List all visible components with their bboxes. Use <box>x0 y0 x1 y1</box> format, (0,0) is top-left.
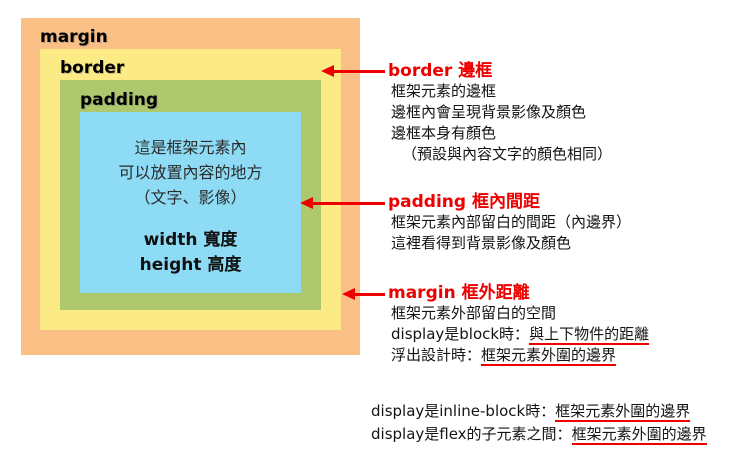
margin-annotation-line-float: 浮出設計時：框架元素外圍的邊界 <box>391 345 649 366</box>
box-model-diagram: margin border padding 這是框架元素內 可以放置內容的地方 … <box>0 0 750 461</box>
flex-note: display是flex的子元素之間：框架元素外圍的邊界 <box>371 423 707 446</box>
content-description: 這是框架元素內 可以放置內容的地方 （文字、影像） <box>80 135 301 210</box>
margin-float-underlined: 框架元素外圍的邊界 <box>481 346 616 366</box>
border-callout-arrow-icon <box>321 65 385 77</box>
border-annotation: border 邊框 框架元素的邊框 邊框內會呈現背景影像及顏色 邊框本身有顏色 … <box>388 61 612 165</box>
inline-block-underlined: 框架元素外圍的邊界 <box>555 402 690 422</box>
content-description-line-2: 可以放置內容的地方 <box>80 160 301 185</box>
content-dimensions: width 寬度 height 高度 <box>80 228 301 278</box>
padding-annotation: padding 框內間距 框架元素內部留白的間距（內邊界） 這裡看得到背景影像及… <box>388 192 631 254</box>
margin-float-prefix: 浮出設計時： <box>391 346 481 364</box>
border-layer-label: border <box>60 58 124 78</box>
content-width-label: width 寬度 <box>80 228 301 253</box>
border-annotation-line-3: 邊框本身有顏色 <box>391 123 612 144</box>
margin-callout-arrow-icon <box>342 288 385 300</box>
padding-annotation-line-1: 框架元素內部留白的間距（內邊界） <box>391 212 631 233</box>
margin-block-underlined: 與上下物件的距離 <box>529 325 649 345</box>
padding-annotation-title: padding 框內間距 <box>388 192 631 212</box>
flex-underlined: 框架元素外圍的邊界 <box>572 425 707 445</box>
flex-prefix: display是flex的子元素之間： <box>371 425 572 443</box>
margin-annotation: margin 框外距離 框架元素外部留白的空間 display是block時：與… <box>388 283 649 366</box>
content-description-line-3: （文字、影像） <box>80 185 301 210</box>
content-description-line-1: 這是框架元素內 <box>80 135 301 160</box>
margin-layer-label: margin <box>40 27 108 47</box>
padding-layer-label: padding <box>80 90 158 110</box>
padding-annotation-line-2: 這裡看得到背景影像及顏色 <box>391 233 631 254</box>
margin-annotation-line-block: display是block時：與上下物件的距離 <box>391 324 649 345</box>
padding-annotation-body: 框架元素內部留白的間距（內邊界） 這裡看得到背景影像及顏色 <box>391 212 631 254</box>
inline-block-prefix: display是inline-block時： <box>371 402 555 420</box>
margin-block-prefix: display是block時： <box>391 325 529 343</box>
content-height-label: height 高度 <box>80 253 301 278</box>
border-annotation-title: border 邊框 <box>388 61 612 81</box>
border-annotation-body: 框架元素的邊框 邊框內會呈現背景影像及顏色 邊框本身有顏色 （預設與內容文字的顏… <box>391 81 612 165</box>
border-annotation-line-4: （預設與內容文字的顏色相同） <box>391 144 612 165</box>
border-annotation-line-2: 邊框內會呈現背景影像及顏色 <box>391 102 612 123</box>
margin-annotation-line-1: 框架元素外部留白的空間 <box>391 303 649 324</box>
padding-callout-arrow-icon <box>300 197 385 209</box>
inline-block-note: display是inline-block時：框架元素外圍的邊界 <box>371 400 707 423</box>
margin-extra-notes: display是inline-block時：框架元素外圍的邊界 display是… <box>371 400 707 446</box>
border-annotation-line-1: 框架元素的邊框 <box>391 81 612 102</box>
margin-annotation-title: margin 框外距離 <box>388 283 649 303</box>
margin-annotation-body: 框架元素外部留白的空間 display是block時：與上下物件的距離 浮出設計… <box>391 303 649 366</box>
